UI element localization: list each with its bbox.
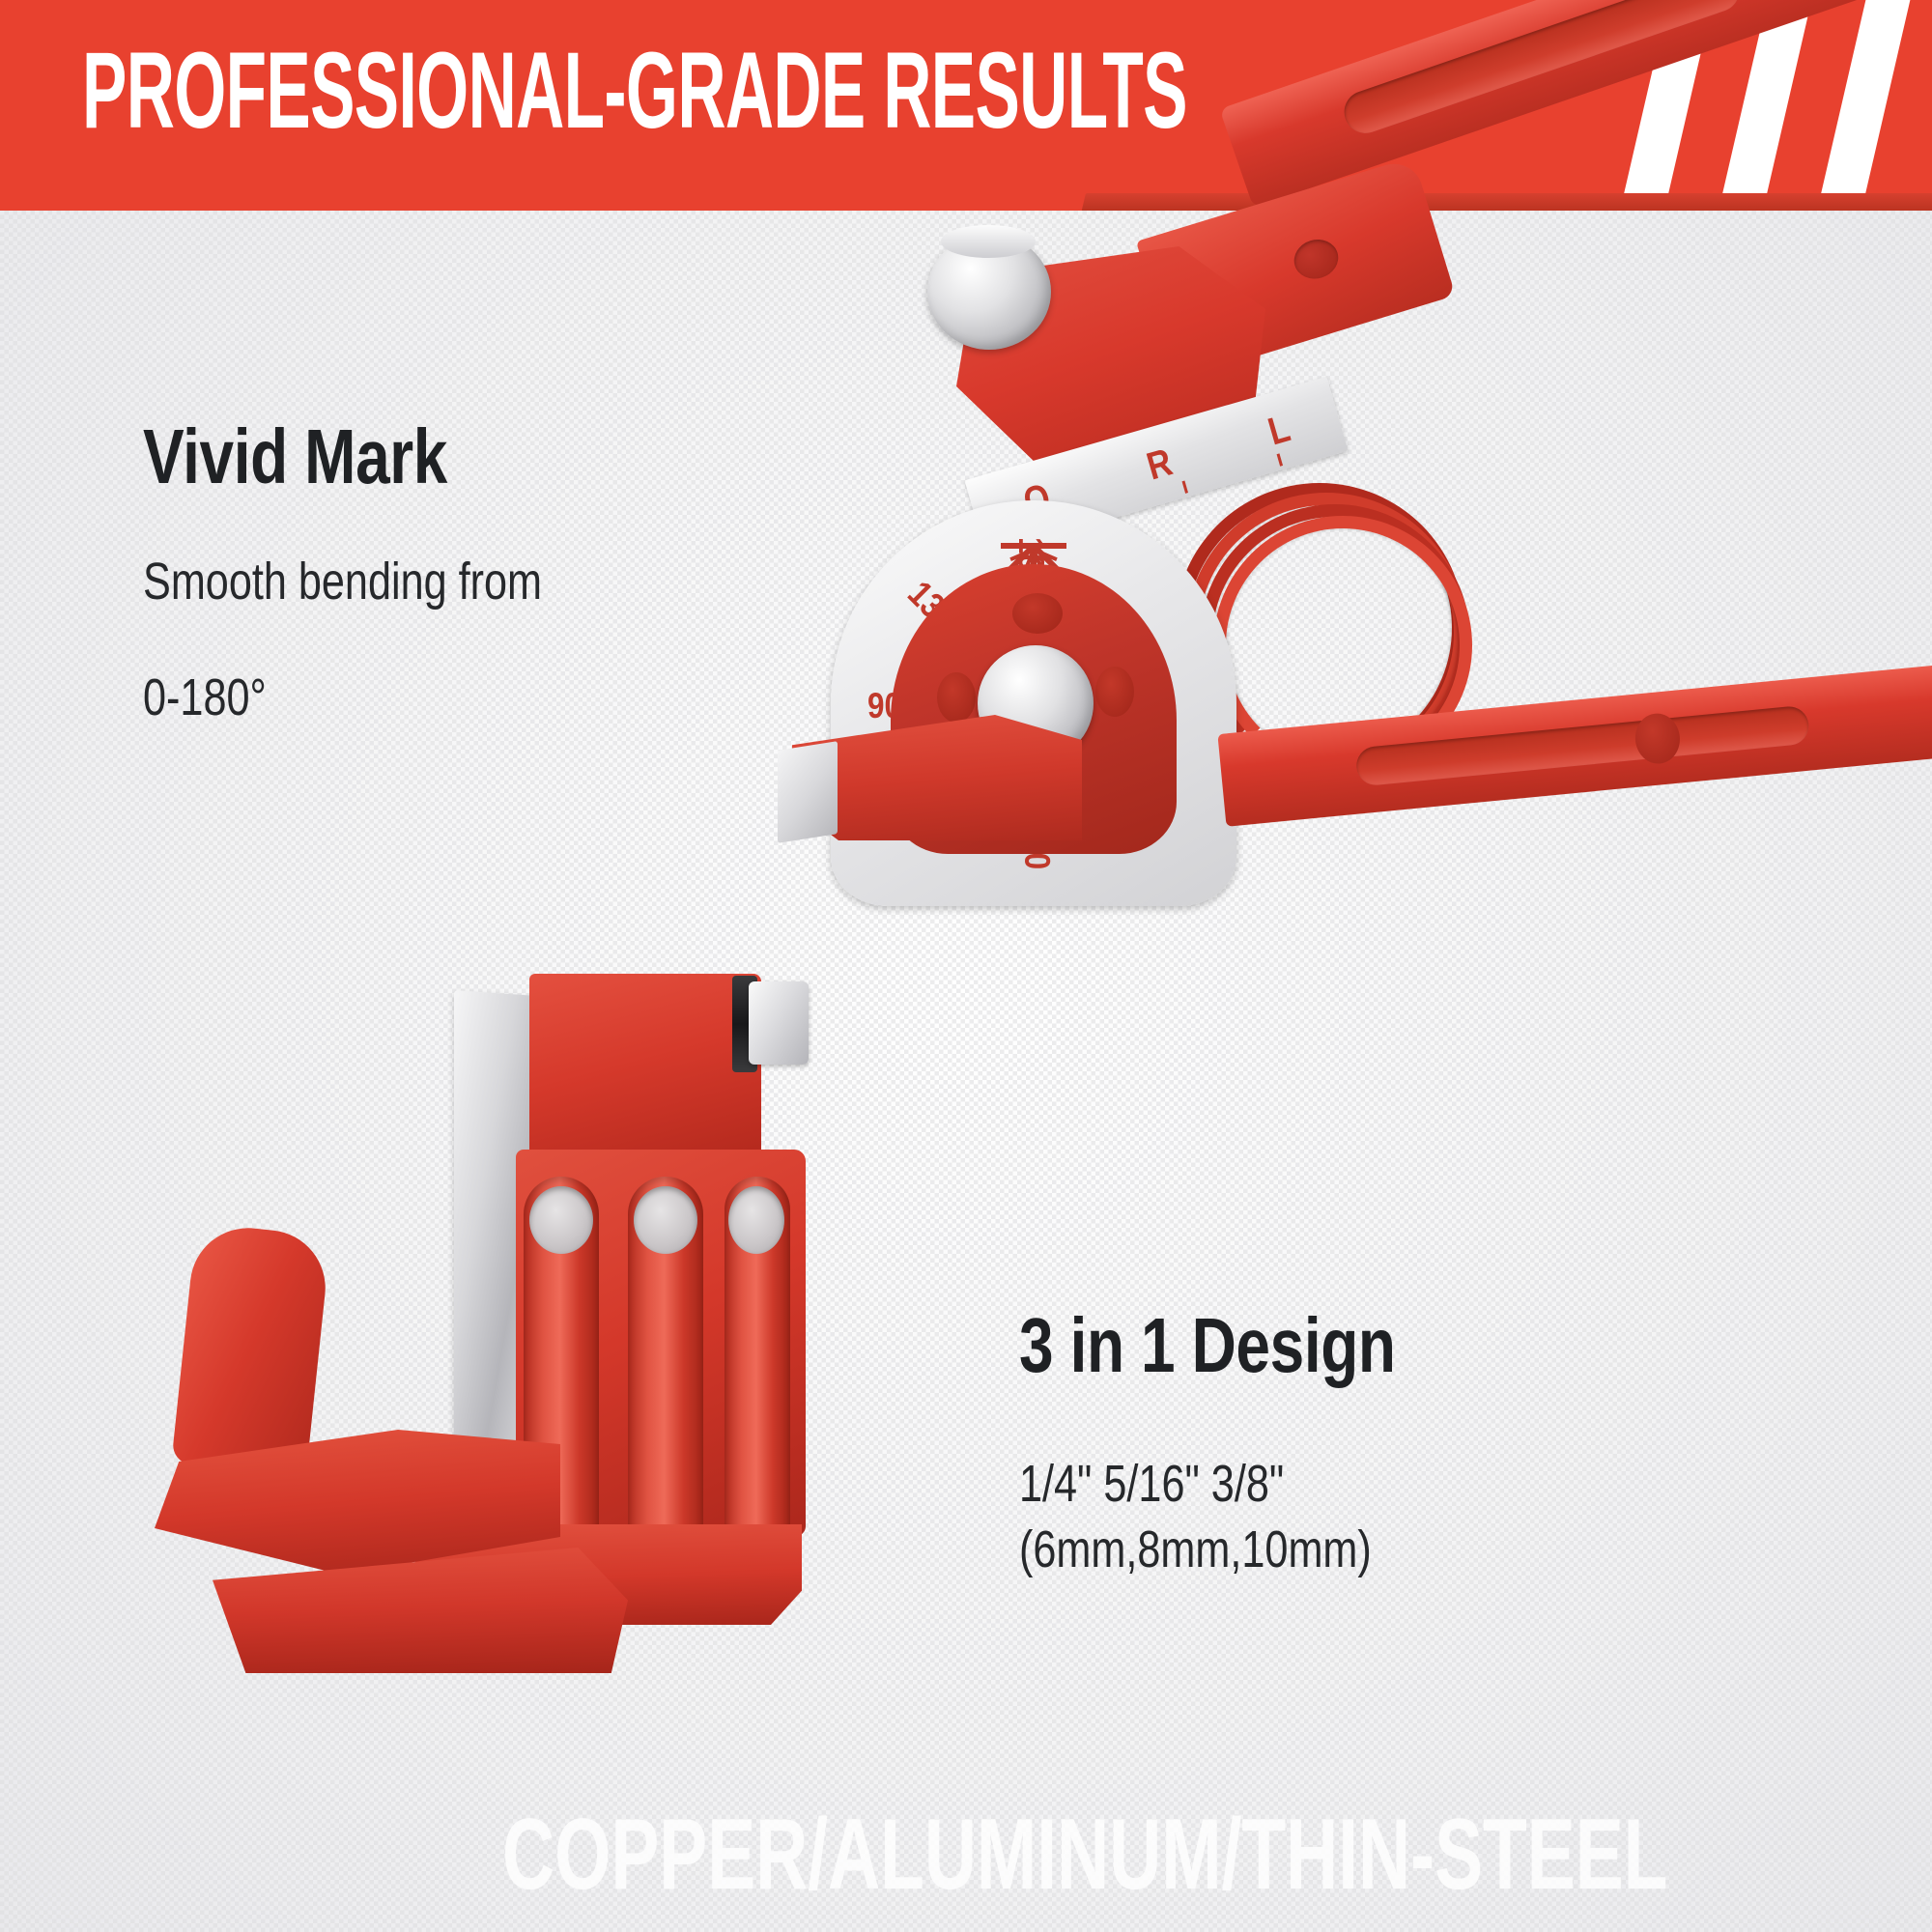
hub-dimple-left: [937, 672, 976, 723]
head-pivot-pin: [749, 981, 809, 1065]
bender-lower-jaw-metal-tip: [778, 741, 838, 843]
feature-block-vivid-mark: Vivid Mark Smooth bending from 0-180°: [143, 415, 641, 730]
head-base-plate: [213, 1548, 628, 1673]
lower-handle-groove: [1354, 705, 1810, 787]
tube-groove-opening-3: [728, 1186, 784, 1254]
tube-groove-opening-2: [634, 1186, 697, 1254]
feature-subtitle-vivid-mark-line2: 0-180°: [143, 665, 542, 730]
index-label-r: R: [1142, 440, 1177, 489]
head-top-block: [529, 974, 761, 1157]
head-lever-knob: [171, 1222, 330, 1476]
dial-label-0: 0: [1018, 853, 1059, 869]
index-tick-3: [1277, 453, 1283, 466]
product-photo-bending-head: [126, 947, 744, 1816]
tube-groove-opening-1: [529, 1186, 593, 1254]
background-watermark-text: COPPER/ALUMINUM/THIN-STEEL: [502, 1804, 1667, 1905]
infographic-canvas: PROFESSIONAL-GRADE RESULTS Vivid Mark Sm…: [0, 0, 1932, 1932]
hub-dimple-right: [1095, 667, 1134, 717]
product-photo-tube-bender: O R L 0 45 90: [947, 193, 1932, 1063]
jaw-arm-dimple: [1290, 234, 1344, 284]
banner-headline: PROFESSIONAL-GRADE RESULTS: [82, 37, 1187, 145]
feature-subtitle-vivid-mark-line1: Smooth bending from: [143, 549, 542, 614]
index-label-l: L: [1264, 407, 1294, 454]
diagonal-stripe-3: [1807, 0, 1918, 211]
angle-gauge-dial: 0 45 90 135 180: [831, 500, 1236, 906]
upper-pivot-bolt: [927, 234, 1051, 350]
feature-title-vivid-mark: Vivid Mark: [143, 415, 542, 498]
hub-dimple-top: [1012, 593, 1063, 634]
